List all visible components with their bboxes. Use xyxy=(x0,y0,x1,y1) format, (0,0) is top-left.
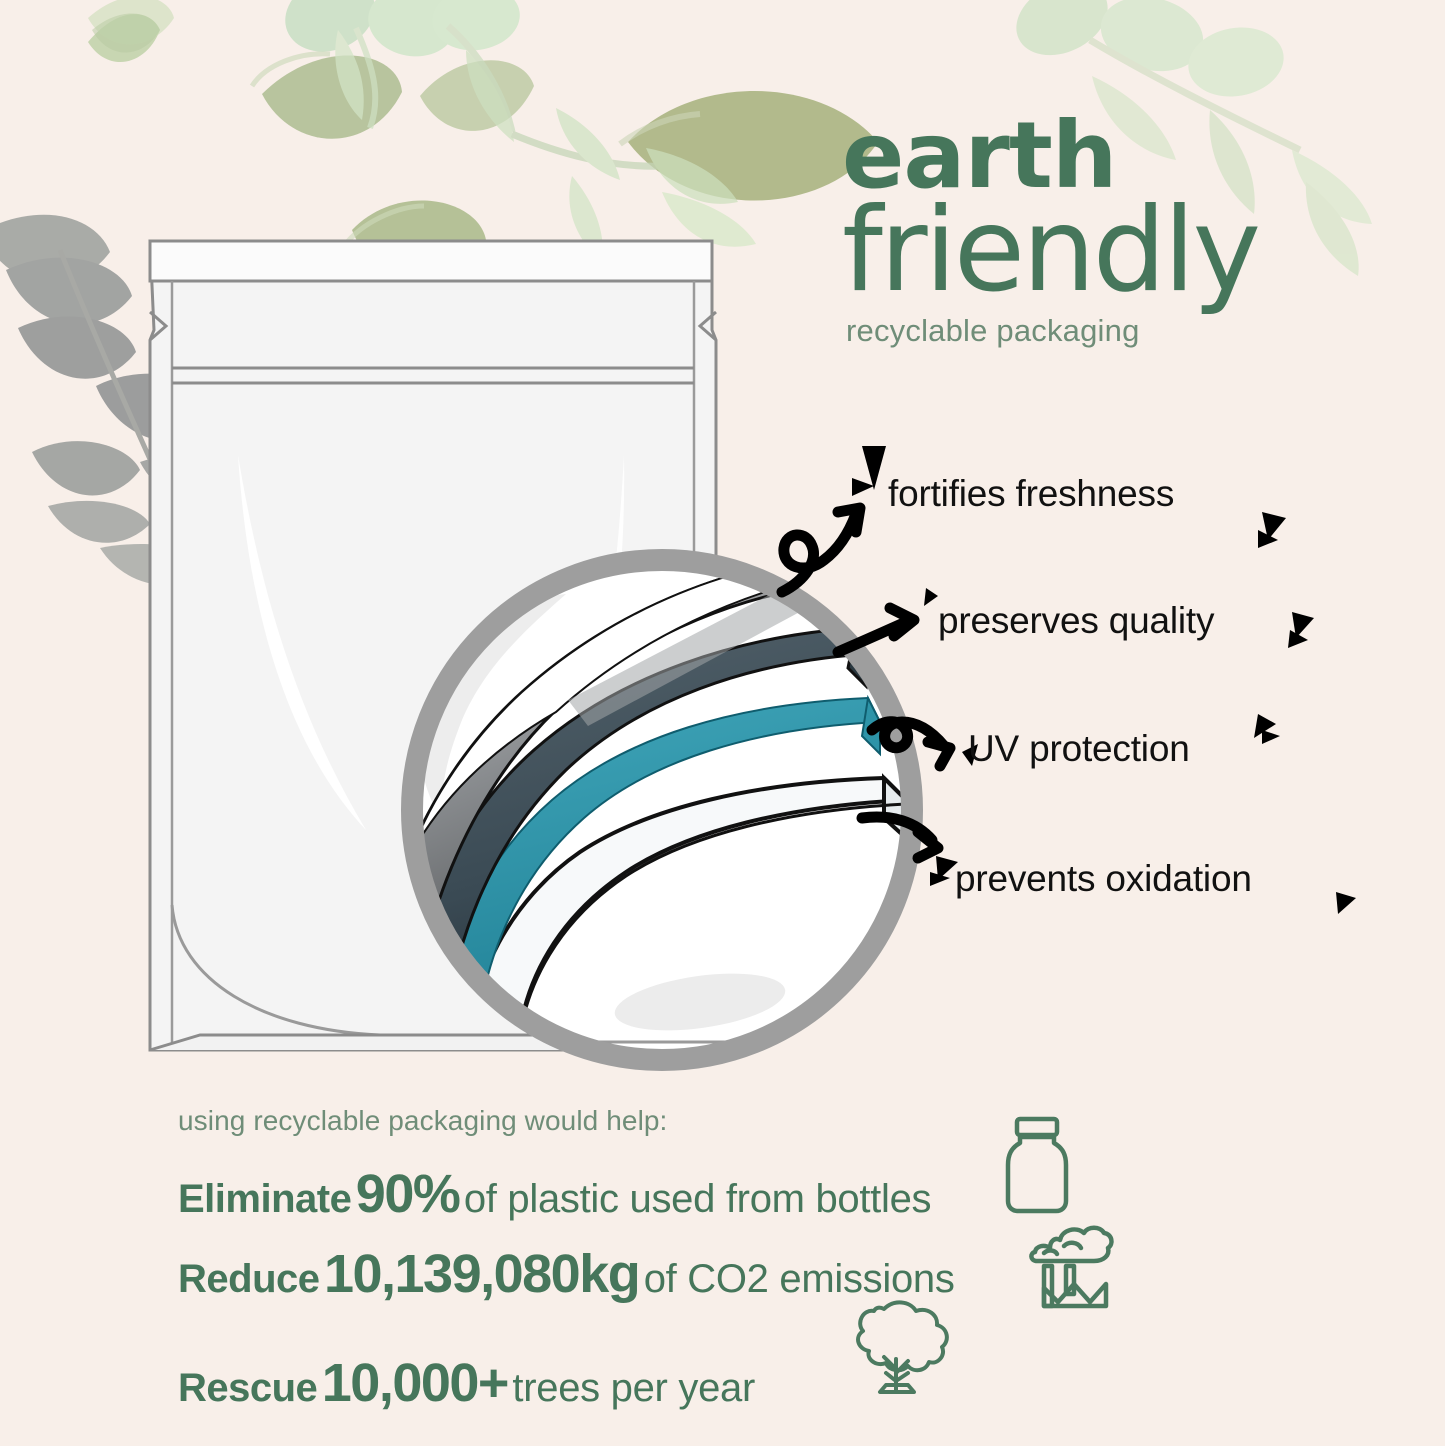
stat-verb: Rescue xyxy=(178,1366,317,1410)
headline-block: earth friendly recyclable packaging xyxy=(842,112,1362,349)
stat-row-rescue: Rescue 10,000+ trees per year xyxy=(178,1352,755,1414)
headline-line-2: friendly xyxy=(842,196,1362,306)
stat-tail: of plastic used from bottles xyxy=(464,1177,931,1221)
stat-row-eliminate: Eliminate 90% of plastic used from bottl… xyxy=(178,1163,931,1225)
infographic-canvas: earth friendly recyclable packaging fort… xyxy=(0,0,1445,1446)
stat-value: 10,000+ xyxy=(322,1353,508,1413)
tree-icon xyxy=(838,1295,952,1401)
stat-tail: trees per year xyxy=(512,1366,755,1410)
headline-subtitle: recyclable packaging xyxy=(846,313,1362,349)
feature-label-prevents-oxidation: prevents oxidation xyxy=(955,858,1252,900)
stats-intro-text: using recyclable packaging would help: xyxy=(178,1105,667,1137)
stat-value: 10,139,080kg xyxy=(324,1244,639,1304)
stat-verb: Eliminate xyxy=(178,1177,351,1221)
feature-label-fortifies-freshness: fortifies freshness xyxy=(888,473,1174,515)
feature-label-uv-protection: UV protection xyxy=(968,728,1190,770)
feature-label-preserves-quality: preserves quality xyxy=(938,600,1214,642)
stat-verb: Reduce xyxy=(178,1257,320,1301)
factory-icon xyxy=(1024,1222,1120,1314)
bottle-icon xyxy=(1000,1115,1074,1215)
stat-value: 90% xyxy=(356,1164,460,1224)
